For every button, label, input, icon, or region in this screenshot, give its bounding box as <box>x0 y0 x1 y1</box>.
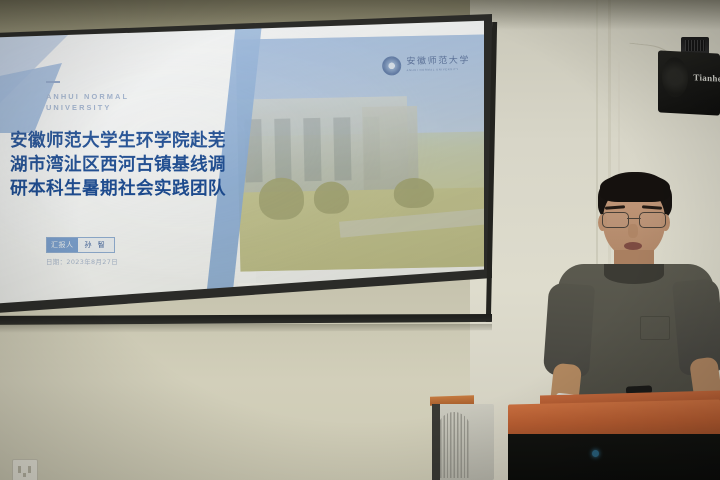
presenter-name: 孙 智 <box>78 238 114 252</box>
slide-title-line3: 研本科生暑期社会实践团队 <box>10 177 250 201</box>
photo-tree <box>394 177 435 208</box>
slide-rule-dash <box>46 81 60 83</box>
university-emblem-icon <box>382 56 401 75</box>
cabinet-vent-grille-icon <box>438 412 470 478</box>
podium-front-panel <box>508 434 720 480</box>
person-nose <box>628 224 638 238</box>
person-mouth <box>624 242 642 250</box>
university-logo-name-en: ANHUI NORMAL UNIVERSITY <box>407 68 471 72</box>
person-collar <box>604 264 664 284</box>
slide-date: 日期：2023年8月27日 <box>46 257 118 266</box>
presentation-slide: 安徽师范大学 ANHUI NORMAL UNIVERSITY ANHUI NOR… <box>0 19 484 307</box>
screen-surface: 安徽师范大学 ANHUI NORMAL UNIVERSITY ANHUI NOR… <box>0 19 484 307</box>
slide-title-line2: 湖市湾沚区西河古镇基线调 <box>10 153 250 177</box>
speaker-grille-icon <box>662 57 688 98</box>
equipment-cabinet <box>432 404 494 480</box>
photo-tree <box>259 177 305 220</box>
slide-title-line1: 安徽师范大学生环学院赴芜 <box>10 129 250 153</box>
slide-university-en: ANHUI NORMAL UNIVERSITY <box>46 91 129 113</box>
classroom-photo-scene: 安徽师范大学 ANHUI NORMAL UNIVERSITY ANHUI NOR… <box>0 0 720 480</box>
cabinet-side-panel <box>432 404 440 480</box>
wall-speaker: Tianhe <box>658 50 720 115</box>
person-fringe <box>600 174 670 202</box>
slide-university-en-line2: UNIVERSITY <box>46 102 129 113</box>
slide-title: 安徽师范大学生环学院赴芜 湖市湾沚区西河古镇基线调 研本科生暑期社会实践团队 <box>10 129 250 201</box>
university-logo: 安徽师范大学 ANHUI NORMAL UNIVERSITY <box>382 55 470 76</box>
podium-power-led-icon <box>592 450 599 457</box>
presenter-badge: 汇报人 孙 智 <box>46 237 115 253</box>
person-shirt-pocket <box>640 316 670 340</box>
speaker-brand-label: Tianhe <box>693 72 720 84</box>
projection-screen: 安徽师范大学 ANHUI NORMAL UNIVERSITY ANHUI NOR… <box>0 14 492 320</box>
wall-outlet-icon <box>12 459 38 480</box>
presenter-label: 汇报人 <box>47 238 78 252</box>
university-logo-name-cn: 安徽师范大学 <box>406 57 470 67</box>
photo-tree <box>314 181 350 214</box>
slide-university-en-line1: ANHUI NORMAL <box>46 91 129 102</box>
campus-photo: 安徽师范大学 ANHUI NORMAL UNIVERSITY <box>236 34 484 271</box>
